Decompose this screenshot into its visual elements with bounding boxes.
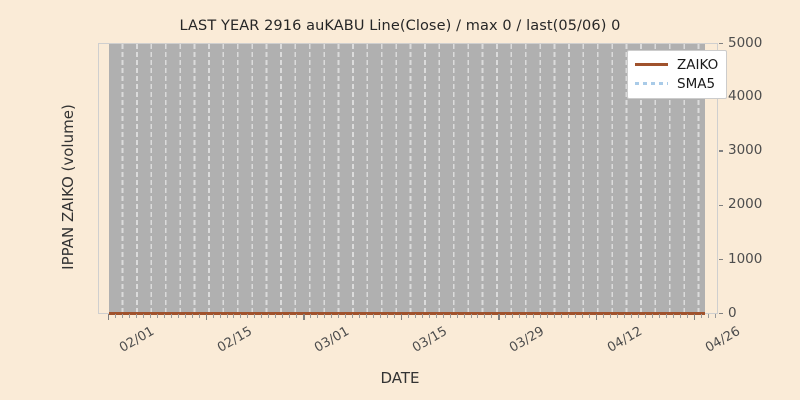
x-minor-tick <box>471 314 472 318</box>
x-minor-tick <box>652 314 653 318</box>
y-tick-mark <box>719 259 723 260</box>
x-minor-tick <box>575 314 576 318</box>
x-minor-tick <box>512 314 513 318</box>
x-tick-mark-0426 <box>694 314 695 320</box>
x-minor-tick <box>505 314 506 318</box>
x-minor-tick <box>568 314 569 318</box>
x-tick-mark-0201 <box>108 314 109 320</box>
x-minor-tick <box>554 314 555 318</box>
x-tick-label-0412: 04/12 <box>605 324 645 356</box>
x-minor-tick <box>247 314 248 318</box>
x-tick-mark-0215 <box>206 314 207 320</box>
x-minor-tick <box>484 314 485 318</box>
x-minor-tick <box>359 314 360 318</box>
x-tick-label-0329: 03/29 <box>507 324 547 356</box>
x-minor-tick <box>624 314 625 318</box>
x-minor-tick <box>638 314 639 318</box>
x-minor-tick <box>519 314 520 318</box>
y-tick-mark <box>719 150 723 151</box>
x-minor-tick <box>415 314 416 318</box>
x-tick-mark-0412 <box>596 314 597 320</box>
legend-label-sma5: SMA5 <box>677 76 715 92</box>
x-minor-tick <box>561 314 562 318</box>
x-minor-tick <box>317 314 318 318</box>
x-minor-tick <box>491 314 492 318</box>
grid-lines <box>109 44 705 315</box>
x-minor-tick <box>617 314 618 318</box>
x-minor-tick <box>464 314 465 318</box>
y-tick-mark <box>719 313 723 314</box>
x-minor-tick <box>408 314 409 318</box>
x-minor-tick <box>122 314 123 318</box>
chart-figure: LAST YEAR 2916 auKABU Line(Close) / max … <box>0 0 800 400</box>
plot-data-region <box>109 44 705 315</box>
x-minor-tick <box>157 314 158 318</box>
x-minor-tick <box>136 314 137 318</box>
x-minor-tick <box>645 314 646 318</box>
chart-legend[interactable]: ZAIKO SMA5 <box>627 50 727 99</box>
x-minor-tick <box>429 314 430 318</box>
y-tick-label: 1000 <box>728 251 762 267</box>
y-tick-mark <box>719 205 723 206</box>
x-tick-label-0426: 04/26 <box>703 324 743 356</box>
legend-swatch-solid-icon <box>635 59 668 71</box>
y-tick-mark <box>719 43 723 44</box>
x-axis-title: DATE <box>0 369 800 387</box>
x-minor-tick <box>708 314 709 318</box>
legend-item-zaiko[interactable]: ZAIKO <box>635 55 718 74</box>
x-minor-tick <box>631 314 632 318</box>
x-minor-tick <box>610 314 611 318</box>
x-minor-tick <box>178 314 179 318</box>
x-minor-tick <box>422 314 423 318</box>
y-tick-label: 2000 <box>728 196 762 212</box>
x-minor-tick <box>387 314 388 318</box>
plot-axes <box>98 43 718 314</box>
x-minor-tick <box>673 314 674 318</box>
x-minor-tick <box>547 314 548 318</box>
x-minor-tick <box>659 314 660 318</box>
x-tick-label-0301: 03/01 <box>312 324 352 356</box>
x-minor-tick <box>533 314 534 318</box>
x-tick-label-0201: 02/01 <box>117 324 157 356</box>
x-minor-tick <box>129 314 130 318</box>
x-minor-tick <box>296 314 297 318</box>
x-minor-tick <box>261 314 262 318</box>
x-tick-label-0215: 02/15 <box>215 324 255 356</box>
x-minor-tick <box>373 314 374 318</box>
x-tick-label-0315: 03/15 <box>410 324 450 356</box>
x-minor-tick <box>310 314 311 318</box>
x-minor-tick <box>352 314 353 318</box>
x-minor-tick <box>115 314 116 318</box>
x-minor-tick <box>666 314 667 318</box>
x-tick-mark-0301 <box>303 314 304 320</box>
x-tick-mark-0315 <box>401 314 402 320</box>
legend-item-sma5[interactable]: SMA5 <box>635 74 718 93</box>
x-minor-tick <box>526 314 527 318</box>
x-tick-mark-0329 <box>498 314 499 320</box>
y-tick-label: 3000 <box>728 142 762 158</box>
x-minor-tick <box>436 314 437 318</box>
y-tick-label: 5000 <box>728 35 762 51</box>
x-minor-tick <box>331 314 332 318</box>
x-minor-tick <box>540 314 541 318</box>
x-minor-tick <box>143 314 144 318</box>
y-tick-label: 0 <box>728 305 737 321</box>
legend-label-zaiko: ZAIKO <box>677 57 718 73</box>
y-axis-title: IPPAN ZAIKO (volume) <box>59 77 77 297</box>
x-minor-tick <box>589 314 590 318</box>
x-minor-tick <box>233 314 234 318</box>
x-minor-tick <box>450 314 451 318</box>
x-minor-tick <box>268 314 269 318</box>
x-minor-tick <box>185 314 186 318</box>
x-minor-tick <box>380 314 381 318</box>
x-minor-tick <box>477 314 478 318</box>
x-minor-tick <box>345 314 346 318</box>
x-minor-tick <box>227 314 228 318</box>
x-minor-tick <box>443 314 444 318</box>
x-minor-tick <box>680 314 681 318</box>
x-minor-tick <box>603 314 604 318</box>
x-minor-tick <box>394 314 395 318</box>
x-minor-tick <box>324 314 325 318</box>
x-minor-tick <box>275 314 276 318</box>
x-minor-tick <box>150 314 151 318</box>
x-minor-tick <box>164 314 165 318</box>
x-minor-tick <box>701 314 702 318</box>
legend-swatch-dotted-icon <box>635 78 668 90</box>
x-minor-tick <box>171 314 172 318</box>
x-minor-tick <box>192 314 193 318</box>
x-minor-tick <box>289 314 290 318</box>
x-minor-tick <box>366 314 367 318</box>
chart-title: LAST YEAR 2916 auKABU Line(Close) / max … <box>0 18 800 34</box>
x-minor-tick <box>338 314 339 318</box>
x-minor-tick <box>282 314 283 318</box>
x-minor-tick <box>687 314 688 318</box>
x-minor-tick <box>199 314 200 318</box>
x-minor-tick <box>715 314 716 318</box>
x-minor-tick <box>254 314 255 318</box>
x-minor-tick <box>220 314 221 318</box>
x-minor-tick <box>582 314 583 318</box>
y-tick-label: 4000 <box>728 88 762 104</box>
x-minor-tick <box>213 314 214 318</box>
x-minor-tick <box>457 314 458 318</box>
x-minor-tick <box>240 314 241 318</box>
